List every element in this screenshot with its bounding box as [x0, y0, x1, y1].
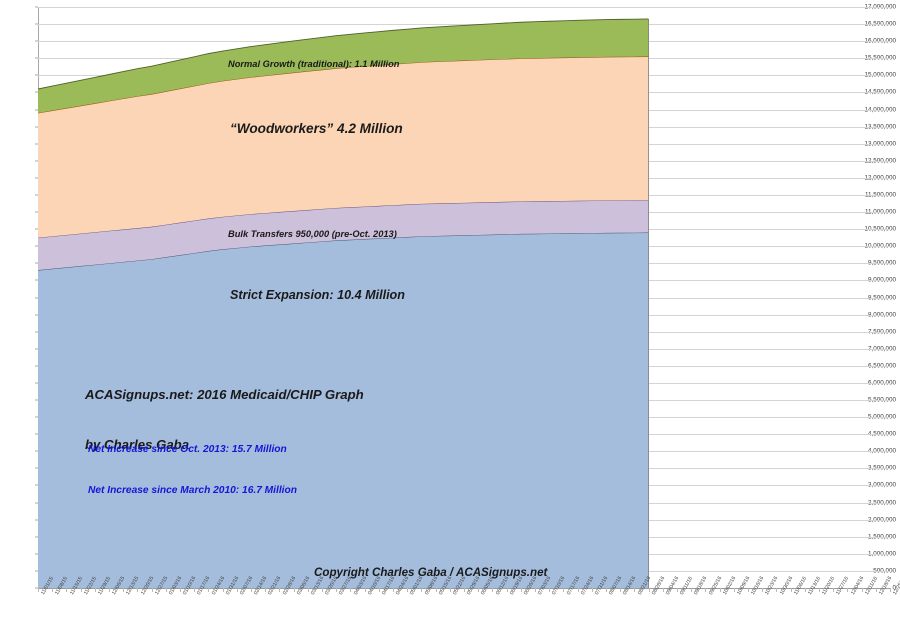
x-tick-mark — [194, 588, 195, 592]
x-tick-mark — [549, 588, 550, 592]
copyright-notice: Copyright Charles Gaba / ACASignups.net — [314, 566, 547, 579]
x-tick-mark — [66, 588, 67, 592]
annotation-bulk-transfers: Bulk Transfers 950,000 (pre-Oct. 2013) — [228, 229, 397, 239]
x-tick-mark — [805, 588, 806, 592]
x-tick-mark — [535, 588, 536, 592]
x-tick-mark — [38, 588, 39, 592]
x-tick-mark — [606, 588, 607, 592]
x-tick-mark — [109, 588, 110, 592]
x-tick-mark — [862, 588, 863, 592]
x-tick-mark — [208, 588, 209, 592]
x-tick-mark — [223, 588, 224, 592]
x-tick-mark — [464, 588, 465, 592]
x-tick-mark — [762, 588, 763, 592]
x-tick-mark — [152, 588, 153, 592]
x-tick-mark — [166, 588, 167, 592]
x-tick-mark — [350, 588, 351, 592]
x-tick-mark — [492, 588, 493, 592]
x-tick-mark — [691, 588, 692, 592]
annotation-strict-expansion: Strict Expansion: 10.4 Million — [230, 288, 405, 302]
x-tick-mark — [265, 588, 266, 592]
x-tick-mark — [507, 588, 508, 592]
x-tick-mark — [819, 588, 820, 592]
x-tick-mark — [336, 588, 337, 592]
x-tick-mark — [81, 588, 82, 592]
net-increase-oct-2013: Net Increase since Oct. 2013: 15.7 Milli… — [88, 443, 297, 457]
x-tick-mark — [563, 588, 564, 592]
x-tick-mark — [450, 588, 451, 592]
net-increase-march-2010: Net Increase since March 2010: 16.7 Mill… — [88, 484, 297, 498]
chart-title: ACASignups.net: 2016 Medicaid/CHIP Graph — [85, 387, 364, 404]
x-tick-mark — [237, 588, 238, 592]
x-tick-mark — [847, 588, 848, 592]
x-tick-mark — [833, 588, 834, 592]
x-tick-mark — [137, 588, 138, 592]
annotation-woodworkers: “Woodworkers” 4.2 Million — [230, 121, 403, 136]
x-tick-mark — [123, 588, 124, 592]
x-tick-mark — [95, 588, 96, 592]
x-tick-mark — [578, 588, 579, 592]
x-tick-mark — [677, 588, 678, 592]
x-tick-mark — [251, 588, 252, 592]
x-tick-mark — [890, 588, 891, 592]
medicaid-chip-stacked-area-chart: 0500,0001,000,0001,500,0002,000,0002,500… — [0, 0, 900, 626]
x-tick-mark — [776, 588, 777, 592]
x-tick-mark — [379, 588, 380, 592]
x-tick-mark — [720, 588, 721, 592]
x-tick-mark — [791, 588, 792, 592]
x-tick-mark — [365, 588, 366, 592]
x-tick-mark — [322, 588, 323, 592]
x-tick-mark — [308, 588, 309, 592]
net-increase-block: Net Increase since Oct. 2013: 15.7 Milli… — [88, 416, 297, 524]
x-tick-mark — [748, 588, 749, 592]
x-tick-mark — [294, 588, 295, 592]
x-tick-mark — [705, 588, 706, 592]
x-tick-mark — [876, 588, 877, 592]
x-tick-mark — [649, 588, 650, 592]
x-tick-mark — [279, 588, 280, 592]
x-tick-mark — [634, 588, 635, 592]
x-tick-mark — [421, 588, 422, 592]
x-tick-mark — [620, 588, 621, 592]
annotation-normal-growth: Normal Growth (traditional): 1.1 Million — [228, 59, 399, 69]
x-tick-mark — [52, 588, 53, 592]
x-tick-mark — [436, 588, 437, 592]
x-tick-mark — [180, 588, 181, 592]
x-tick-mark — [393, 588, 394, 592]
x-tick-mark — [478, 588, 479, 592]
x-tick-mark — [521, 588, 522, 592]
x-tick-mark — [592, 588, 593, 592]
x-tick-mark — [734, 588, 735, 592]
x-tick-mark — [663, 588, 664, 592]
x-tick-mark — [407, 588, 408, 592]
